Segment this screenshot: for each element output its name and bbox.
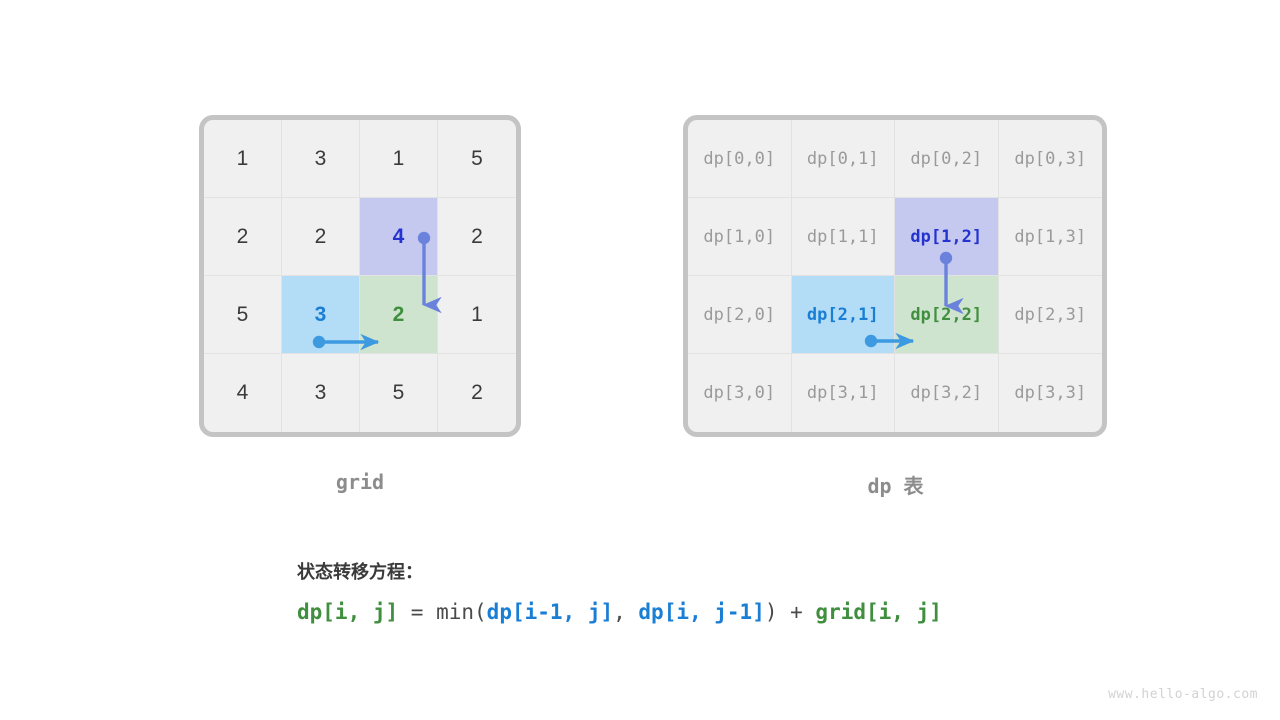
dp-cell-2-0: dp[2,0] xyxy=(688,276,792,354)
formula-part-4: dp[i, j-1] xyxy=(638,600,764,624)
formula-expression: dp[i, j] = min(dp[i-1, j], dp[i, j-1]) +… xyxy=(297,600,942,624)
grid-matrix: 1315224253214352 xyxy=(199,115,521,437)
grid-cell-1-2: 4 xyxy=(360,198,438,276)
formula-block: 状态转移方程： dp[i, j] = min(dp[i-1, j], dp[i,… xyxy=(297,558,942,624)
dp-cell-1-2: dp[1,2] xyxy=(895,198,999,276)
grid-cell-0-0: 1 xyxy=(204,120,282,198)
grid-cell-3-1: 3 xyxy=(282,354,360,432)
grid-cell-1-3: 2 xyxy=(438,198,516,276)
dp-cell-1-3: dp[1,3] xyxy=(999,198,1103,276)
grid-cell-1-1: 2 xyxy=(282,198,360,276)
grid-cell-2-1: 3 xyxy=(282,276,360,354)
grid-cell-1-0: 2 xyxy=(204,198,282,276)
dp-cell-0-2: dp[0,2] xyxy=(895,120,999,198)
grid-cell-2-3: 1 xyxy=(438,276,516,354)
grid-cell-0-2: 1 xyxy=(360,120,438,198)
dp-cell-3-3: dp[3,3] xyxy=(999,354,1103,432)
grid-cell-2-0: 5 xyxy=(204,276,282,354)
dp-cell-3-1: dp[3,1] xyxy=(792,354,896,432)
formula-part-5: ) + xyxy=(765,600,816,624)
grid-cell-2-2: 2 xyxy=(360,276,438,354)
formula-part-2: dp[i-1, j] xyxy=(487,600,613,624)
dp-cell-2-3: dp[2,3] xyxy=(999,276,1103,354)
grid-cell-3-3: 2 xyxy=(438,354,516,432)
formula-part-6: grid[i, j] xyxy=(815,600,941,624)
formula-part-3: , xyxy=(613,600,638,624)
grid-cell-0-1: 3 xyxy=(282,120,360,198)
dp-cell-3-2: dp[3,2] xyxy=(895,354,999,432)
dp-caption: dp 表 xyxy=(683,470,1108,499)
formula-part-1: = min( xyxy=(398,600,487,624)
dp-cell-1-1: dp[1,1] xyxy=(792,198,896,276)
grid-cell-3-0: 4 xyxy=(204,354,282,432)
grid-cell-0-3: 5 xyxy=(438,120,516,198)
grid-panel: 1315224253214352 xyxy=(199,115,521,437)
dp-cell-1-0: dp[1,0] xyxy=(688,198,792,276)
watermark: www.hello-algo.com xyxy=(1108,687,1258,702)
dp-cell-0-3: dp[0,3] xyxy=(999,120,1103,198)
dp-cell-0-0: dp[0,0] xyxy=(688,120,792,198)
grid-cell-3-2: 5 xyxy=(360,354,438,432)
formula-part-0: dp[i, j] xyxy=(297,600,398,624)
grid-caption: grid xyxy=(199,470,521,494)
dp-cell-0-1: dp[0,1] xyxy=(792,120,896,198)
dp-matrix: dp[0,0]dp[0,1]dp[0,2]dp[0,3]dp[1,0]dp[1,… xyxy=(683,115,1107,437)
dp-cell-2-1: dp[2,1] xyxy=(792,276,896,354)
dp-panel: dp[0,0]dp[0,1]dp[0,2]dp[0,3]dp[1,0]dp[1,… xyxy=(683,115,1107,437)
formula-title: 状态转移方程： xyxy=(297,558,942,584)
dp-cell-3-0: dp[3,0] xyxy=(688,354,792,432)
dp-cell-2-2: dp[2,2] xyxy=(895,276,999,354)
